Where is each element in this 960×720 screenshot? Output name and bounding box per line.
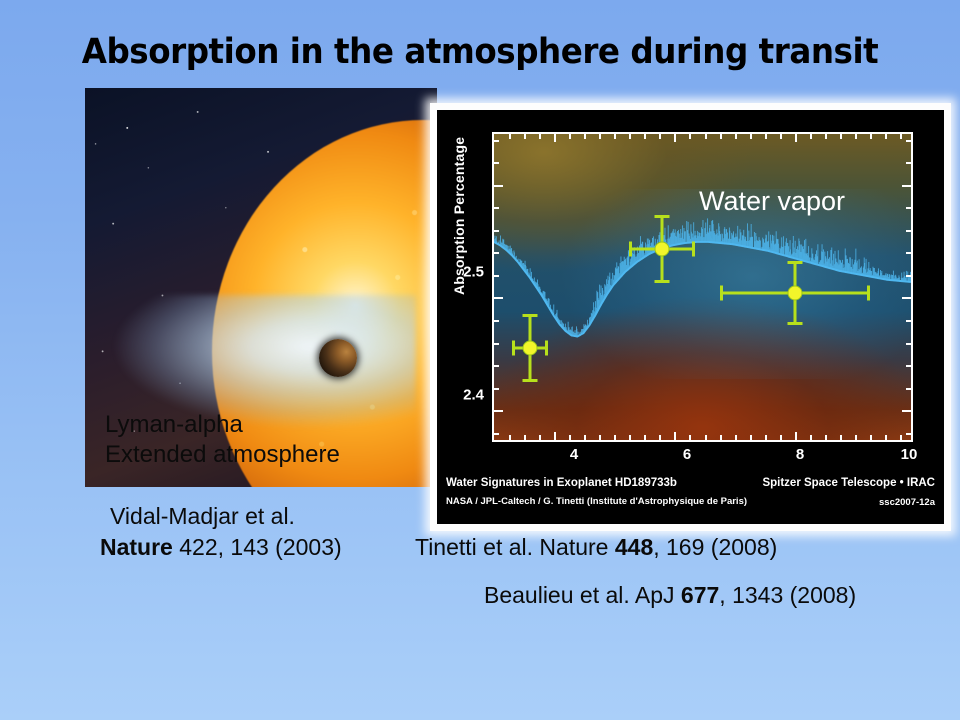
axis-tick [644,134,646,139]
datapoint-1 [512,314,548,382]
datapoint-cap-top [655,215,670,218]
reference-tinetti: Tinetti et al. Nature 448, 169 (2008) [415,534,777,561]
axis-tick [870,435,872,440]
artist-impression-image: Lyman-alpha Extended atmosphere [85,88,437,487]
axis-tick [780,435,782,440]
axis-tick [735,134,737,139]
axis-tick [674,432,676,440]
axis-tick [750,134,752,139]
axis-tick [539,435,541,440]
reference-beaulieu-prefix: Beaulieu et al. ApJ [484,582,681,608]
axis-tick [906,388,911,390]
axis-tick [902,410,911,412]
reference-vidal-madjar-line1: Vidal-Madjar et al. [110,503,295,530]
axis-tick [840,134,842,139]
axis-tick [870,134,872,139]
datapoint-2 [629,215,695,283]
axis-tick [900,435,902,440]
axis-tick [720,435,722,440]
datapoint-cap-bottom [655,280,670,283]
datapoint-cap-right [545,341,548,356]
axis-tick [599,435,601,440]
axis-tick [705,435,707,440]
axis-tick [765,134,767,139]
reference-vidal-journal: Nature [100,534,173,560]
axis-tick [795,432,797,440]
axis-tick [554,134,556,142]
axis-tick [885,435,887,440]
axis-tick [494,433,499,435]
axis-tick [780,134,782,139]
axis-tick [584,134,586,139]
reference-tinetti-prefix: Tinetti et al. Nature [415,534,615,560]
datapoint-3 [720,261,870,324]
axis-tick [494,343,499,345]
axis-tick [494,230,499,232]
axis-tick [906,140,911,142]
axis-tick [750,435,752,440]
credit-attribution: NASA / JPL-Caltech / G. Tinetti (Institu… [446,496,747,507]
reference-tinetti-volume: 448 [615,534,653,560]
credit-title: Water Signatures in Exoplanet HD189733b [446,477,677,489]
axis-tick [524,134,526,139]
axis-tick [494,140,499,142]
axis-tick [569,134,571,139]
datapoint-marker [655,241,670,256]
reference-tinetti-rest: , 169 (2008) [653,534,777,560]
axis-tick [855,134,857,139]
axis-tick [584,435,586,440]
datapoint-cap-right [867,285,870,300]
axis-tick [494,320,499,322]
datapoint-marker [523,341,538,356]
axis-tick [494,410,503,412]
axis-tick [554,432,556,440]
datapoint-cap-top [523,314,538,317]
axis-tick [906,162,911,164]
water-vapor-annotation: Water vapor [699,186,845,217]
axis-tick [902,297,911,299]
reference-beaulieu: Beaulieu et al. ApJ 677, 1343 (2008) [484,582,856,609]
axis-tick [906,343,911,345]
image-credit-bar: Water Signatures in Exoplanet HD189733b … [437,468,944,524]
x-tick-label-10: 10 [901,446,918,463]
axis-tick [689,435,691,440]
axis-tick [644,435,646,440]
plot-area: Water vapor [492,132,913,442]
axis-tick [765,435,767,440]
y-tick-label-2-4: 2.4 [463,387,484,404]
axis-tick [795,134,797,142]
datapoint-cap-top [787,261,802,264]
x-tick-label-6: 6 [683,446,691,463]
axis-tick [629,435,631,440]
axis-tick [539,134,541,139]
reference-vidal-rest: 422, 143 (2003) [173,534,342,560]
datapoint-cap-left [629,241,632,256]
axis-tick [689,134,691,139]
axis-tick [494,207,499,209]
axis-tick [599,134,601,139]
artwork-caption-line1: Lyman-alpha [105,410,340,439]
datapoint-marker [787,285,802,300]
axis-tick [614,134,616,139]
credit-observatory: Spitzer Space Telescope • IRAC [762,477,935,489]
y-axis-tick-labels: 2.5 2.4 2.3 [437,110,492,524]
axis-tick [906,275,911,277]
axis-tick [906,365,911,367]
axis-tick [855,435,857,440]
datapoint-cap-bottom [787,322,802,325]
datapoint-cap-left [512,341,515,356]
axis-tick [494,275,499,277]
axis-tick [720,134,722,139]
axis-tick [509,435,511,440]
reference-beaulieu-volume: 677 [681,582,719,608]
axis-tick [705,134,707,139]
page-title: Absorption in the atmosphere during tran… [34,32,927,72]
axis-tick [659,134,661,139]
axis-tick [569,435,571,440]
datapoint-cap-right [692,241,695,256]
datapoint-cap-bottom [523,379,538,382]
axis-tick [902,185,911,187]
axis-tick [509,134,511,139]
datapoint-cap-left [720,285,723,300]
axis-tick [825,435,827,440]
axis-tick [825,134,827,139]
axis-tick [906,207,911,209]
reference-vidal-madjar-line2: Nature 422, 143 (2003) [100,534,342,561]
axis-tick [494,252,499,254]
x-tick-label-8: 8 [796,446,804,463]
axis-tick [810,134,812,139]
y-tick-label-2-5: 2.5 [463,264,484,281]
axis-tick [659,435,661,440]
axis-tick [906,320,911,322]
axis-tick [494,162,499,164]
credit-image-id: ssc2007-12a [879,497,935,508]
axis-tick [906,230,911,232]
axis-tick [629,134,631,139]
axis-tick [900,134,902,139]
axis-tick [735,435,737,440]
axis-tick [494,185,503,187]
artwork-caption-line2: Extended atmosphere [105,440,340,469]
axis-tick [494,297,503,299]
axis-tick [906,433,911,435]
artwork-caption: Lyman-alpha Extended atmosphere [105,410,340,469]
axis-tick [840,435,842,440]
chart-inner-black-canvas: Absorption Percentage 2.5 2.4 2.3 4 6 8 … [437,110,944,524]
x-tick-label-4: 4 [570,446,578,463]
axis-tick [524,435,526,440]
axis-tick [906,252,911,254]
spitzer-chart-panel: Absorption Percentage 2.5 2.4 2.3 4 6 8 … [430,103,951,531]
axis-tick [614,435,616,440]
axis-tick [810,435,812,440]
reference-beaulieu-rest: , 1343 (2008) [719,582,856,608]
axis-tick [885,134,887,139]
axis-tick [494,388,499,390]
axis-tick [674,134,676,142]
axis-tick [494,365,499,367]
